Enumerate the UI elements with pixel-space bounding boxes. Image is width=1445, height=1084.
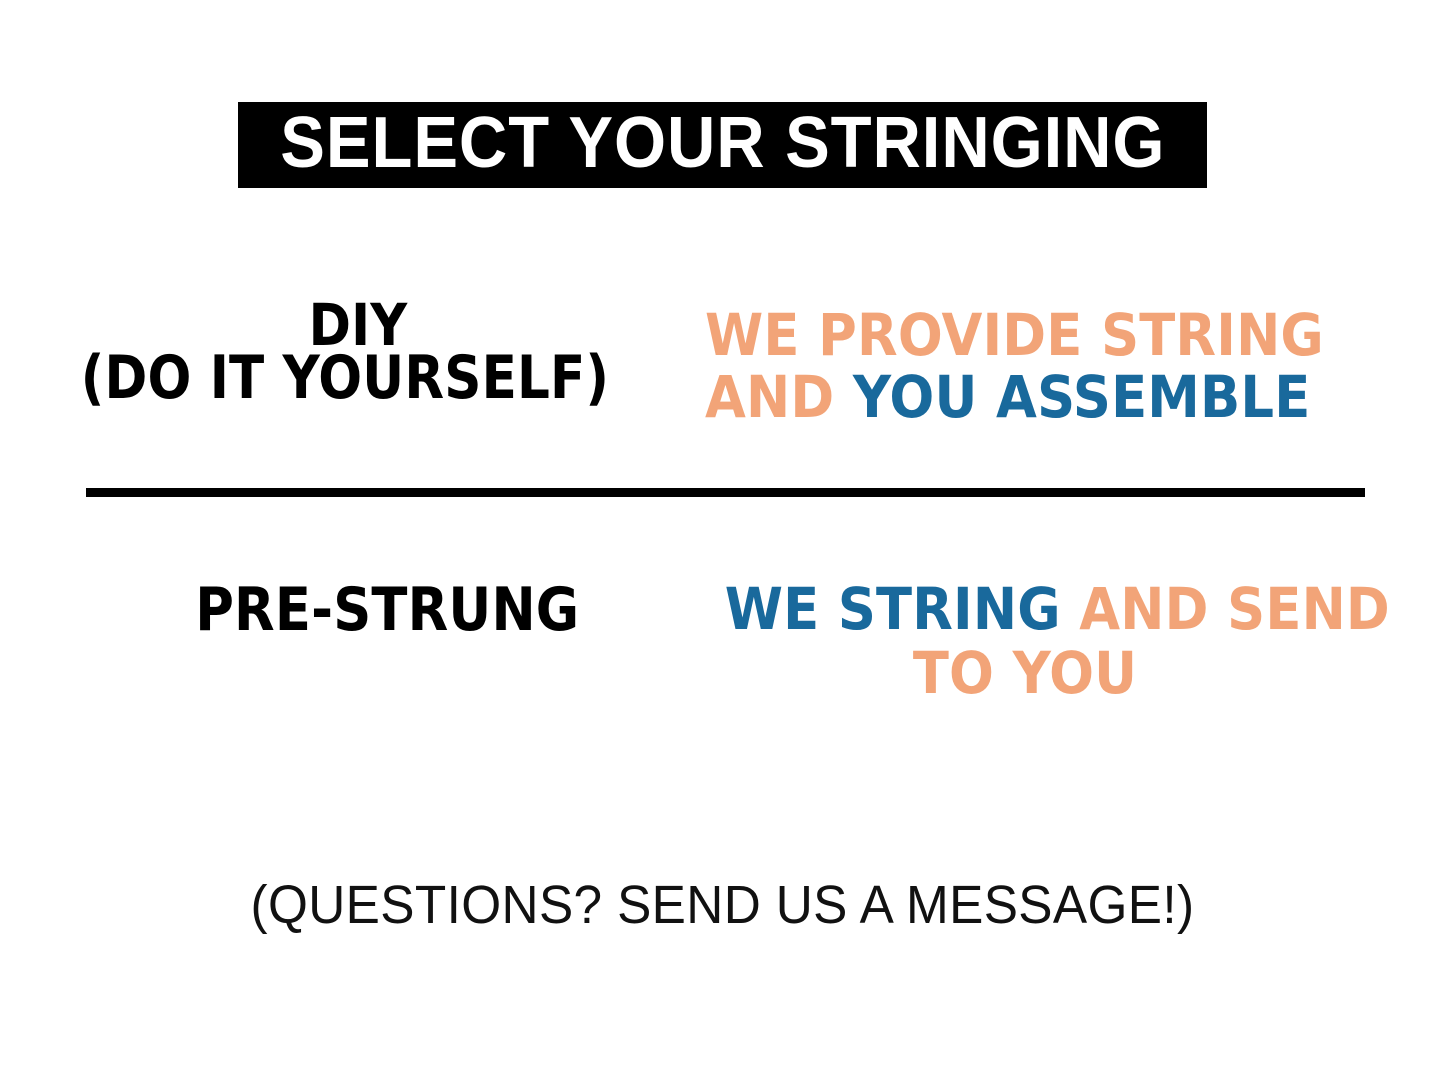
page-title: SELECT YOUR STRINGING: [280, 107, 1165, 183]
stringing-selection-slide: SELECT YOUR STRINGING DIY (DO IT YOURSEL…: [0, 0, 1445, 1084]
options-divider: [86, 488, 1365, 497]
option-prestrung-label[interactable]: PRE-STRUNG: [0, 580, 775, 640]
option-prestrung-desc-toyou-text: TO YOU: [913, 639, 1137, 707]
option-diy-description-line1: WE PROVIDE STRING: [705, 306, 1287, 364]
option-prestrung-description-line1: WE STRING AND SEND: [725, 580, 1326, 638]
option-diy-desc-provide-text: WE PROVIDE STRING: [705, 301, 1324, 369]
option-diy-label-line2: (DO IT YOURSELF): [48, 348, 641, 408]
option-prestrung-description: WE STRING AND SEND TO YOU: [695, 580, 1355, 702]
option-diy-label[interactable]: DIY (DO IT YOURSELF): [0, 296, 690, 408]
option-prestrung-label-text: PRE-STRUNG: [195, 580, 579, 640]
page-title-banner: SELECT YOUR STRINGING: [238, 102, 1207, 188]
option-diy-desc-assemble-text: YOU ASSEMBLE: [853, 363, 1311, 431]
option-diy-description: WE PROVIDE STRING AND YOU ASSEMBLE: [705, 306, 1345, 426]
option-prestrung-description-line2: TO YOU: [725, 644, 1326, 702]
option-prestrung-desc-westring-text: WE STRING: [725, 575, 1080, 643]
option-diy-description-line2: AND YOU ASSEMBLE: [705, 368, 1287, 426]
option-prestrung-desc-andsend-text: AND SEND: [1079, 575, 1390, 643]
footer-note: (QUESTIONS? SEND US A MESSAGE!): [36, 874, 1409, 936]
option-diy-desc-and-text: AND: [705, 363, 853, 431]
